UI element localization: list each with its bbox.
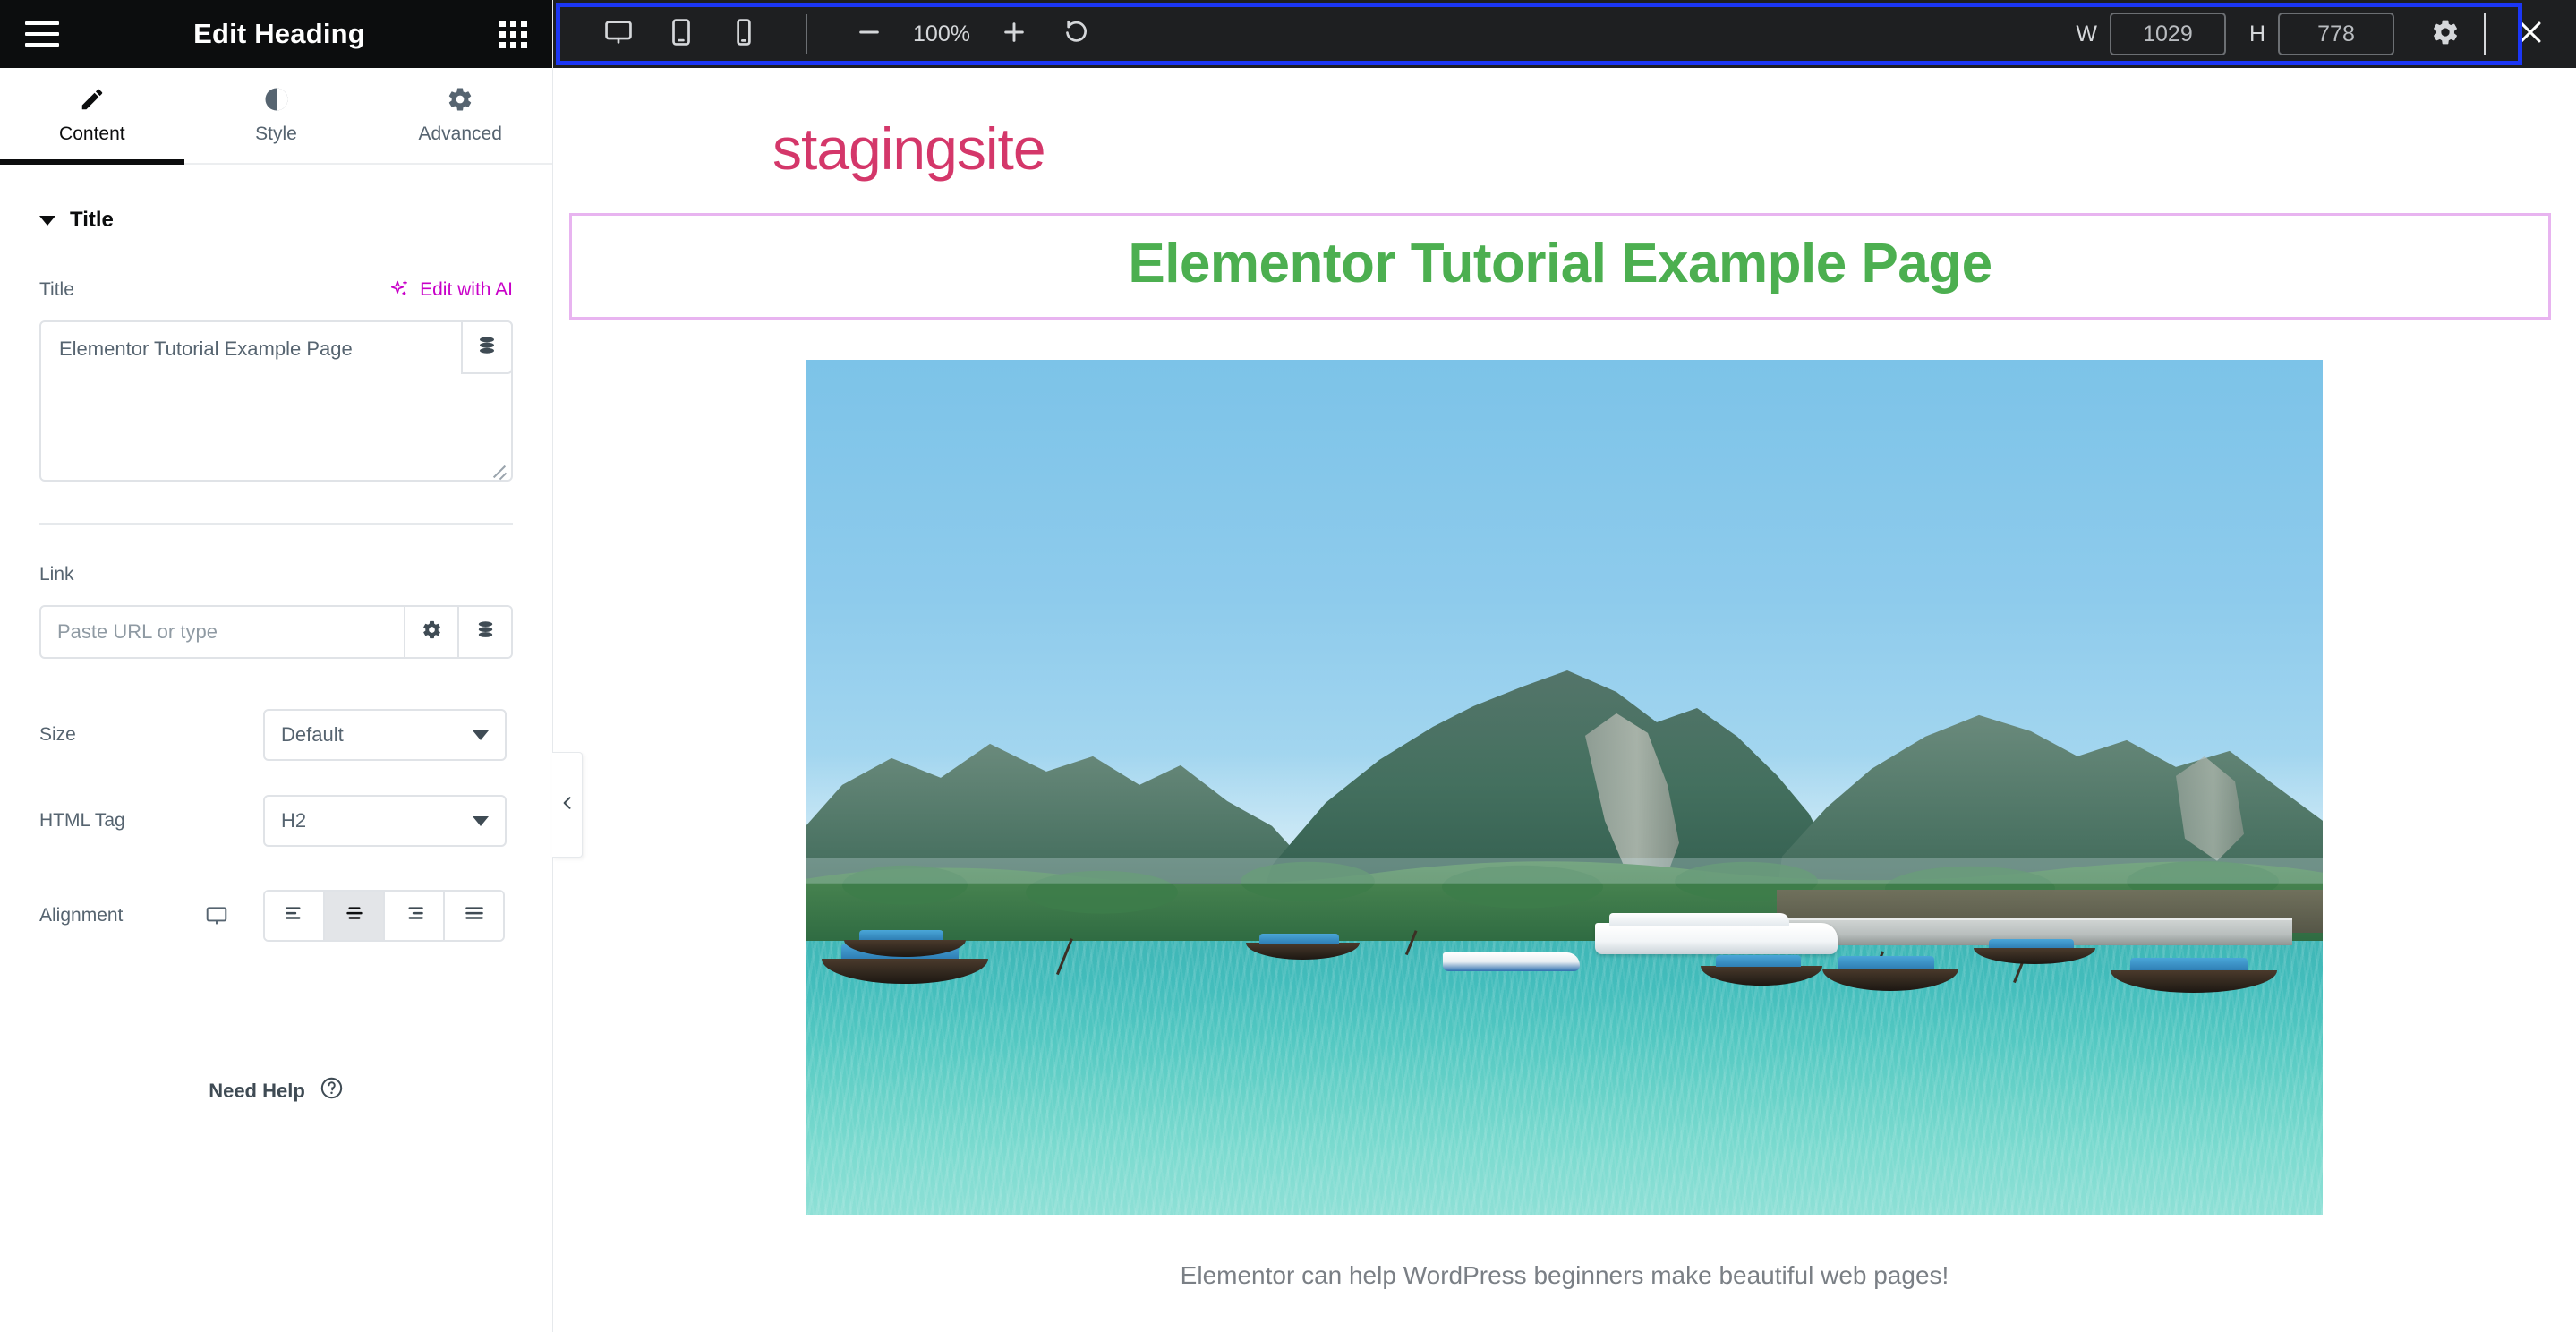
database-stack-icon: [476, 335, 498, 361]
link-field-label: Link: [39, 564, 513, 585]
html-tag-select-value: H2: [281, 809, 306, 832]
need-help-label: Need Help: [209, 1080, 305, 1103]
responsive-toolbar: 100%: [553, 0, 2576, 68]
title-input-value: Elementor Tutorial Example Page: [41, 322, 511, 377]
close-button[interactable]: [2503, 6, 2558, 62]
size-field-label: Size: [39, 724, 263, 746]
tab-content[interactable]: Content: [0, 68, 184, 163]
panel-tabs: Content Style Advanced: [0, 68, 552, 165]
longtail-boat: [1701, 966, 1822, 986]
tab-content-label: Content: [59, 124, 125, 145]
title-field-header: Title Edit with AI: [39, 279, 513, 301]
edit-with-ai-label: Edit with AI: [420, 279, 513, 301]
alignment-field-label: Alignment: [39, 905, 205, 926]
align-left-icon: [283, 902, 306, 930]
image-caption: Elementor can help WordPress beginners m…: [553, 1261, 2576, 1290]
align-center-button[interactable]: [325, 892, 385, 940]
chevron-down-icon: [39, 216, 55, 226]
desktop-icon: [603, 17, 634, 52]
elementor-editor: Edit Heading Content: [0, 0, 2576, 1332]
speed-boat: [1443, 952, 1579, 971]
section-title-header[interactable]: Title: [39, 165, 513, 233]
alignment-field-row: Alignment: [39, 890, 513, 942]
question-circle-icon: [320, 1076, 344, 1106]
responsive-settings-button[interactable]: [2418, 6, 2473, 62]
toolbar-divider-right: [2484, 13, 2486, 55]
chevron-down-icon: [473, 730, 489, 740]
close-x-icon: [2515, 17, 2546, 52]
chevron-left-icon: [559, 791, 576, 819]
heading-widget-selected[interactable]: Elementor Tutorial Example Page: [569, 213, 2551, 320]
device-mobile-button[interactable]: [712, 3, 775, 65]
minus-icon: [855, 18, 883, 51]
tablet-icon: [666, 17, 696, 52]
site-title[interactable]: stagingsite: [553, 115, 2576, 183]
toolbar-divider: [806, 14, 807, 54]
desktop-icon[interactable]: [205, 904, 263, 927]
size-select[interactable]: Default: [263, 709, 507, 761]
align-right-button[interactable]: [385, 892, 445, 940]
pencil-icon: [79, 86, 106, 113]
tab-advanced[interactable]: Advanced: [368, 68, 552, 163]
hamburger-menu-icon[interactable]: [25, 21, 59, 47]
title-input-resize-handle[interactable]: [488, 457, 508, 477]
zoom-control-group: 100%: [838, 3, 1108, 65]
device-desktop-button[interactable]: [587, 3, 650, 65]
longtail-boat: [1246, 943, 1360, 960]
zoom-in-button[interactable]: [983, 3, 1045, 65]
water-layer: [806, 941, 2323, 1215]
database-stack-icon: [475, 619, 496, 645]
title-input[interactable]: Elementor Tutorial Example Page: [39, 320, 513, 482]
gear-icon: [447, 86, 473, 113]
width-input[interactable]: [2110, 13, 2226, 55]
tab-style[interactable]: Style: [184, 68, 369, 163]
contrast-icon: [263, 86, 290, 113]
link-options-button[interactable]: [404, 607, 457, 657]
page-heading-text: Elementor Tutorial Example Page: [572, 232, 2548, 295]
need-help-button[interactable]: Need Help: [39, 1076, 513, 1106]
size-select-value: Default: [281, 723, 344, 747]
size-field-row: Size Default: [39, 709, 513, 761]
link-field-group: [39, 605, 513, 659]
sparkle-icon: [389, 279, 411, 301]
longtail-boat: [1822, 969, 1958, 991]
hero-image[interactable]: [806, 360, 2323, 1215]
tab-advanced-label: Advanced: [418, 124, 501, 145]
longtail-boat: [1974, 948, 2095, 964]
align-right-icon: [403, 902, 426, 930]
preview-canvas: stagingsite Elementor Tutorial Example P…: [553, 68, 2576, 1332]
toolbar-left-group: 100%: [553, 3, 1108, 65]
height-input[interactable]: [2278, 13, 2394, 55]
link-input[interactable]: [41, 607, 404, 657]
editor-right-area: 100%: [553, 0, 2576, 1332]
longtail-boat: [844, 940, 966, 957]
align-center-icon: [343, 902, 366, 930]
title-dynamic-tags-button[interactable]: [461, 320, 513, 374]
align-justify-icon: [463, 902, 486, 930]
height-label: H: [2249, 21, 2265, 47]
alignment-button-group: [263, 890, 505, 942]
chevron-down-icon: [473, 816, 489, 826]
zoom-reset-button[interactable]: [1045, 3, 1108, 65]
gear-icon: [422, 619, 442, 645]
width-label: W: [2076, 21, 2097, 47]
link-dynamic-tags-button[interactable]: [457, 607, 511, 657]
html-tag-select[interactable]: H2: [263, 795, 507, 847]
longtail-boat: [2111, 970, 2277, 993]
ferry-boat: [1595, 923, 1838, 953]
align-left-button[interactable]: [265, 892, 325, 940]
gear-icon: [2431, 18, 2460, 51]
device-tablet-button[interactable]: [650, 3, 712, 65]
editor-panel: Edit Heading Content: [0, 0, 553, 1332]
rotate-ccw-icon: [1062, 18, 1091, 51]
toolbar-right-group: W H: [2076, 6, 2576, 62]
section-title-label: Title: [70, 208, 114, 233]
page-title: Edit Heading: [193, 18, 365, 50]
plus-icon: [1000, 18, 1028, 51]
panel-body: Title Title Edit with AI E: [0, 165, 552, 1332]
edit-with-ai-button[interactable]: Edit with AI: [389, 279, 513, 301]
mobile-icon: [729, 17, 759, 52]
field-divider: [39, 523, 513, 525]
title-field-label: Title: [39, 279, 74, 301]
html-tag-field-row: HTML Tag H2: [39, 795, 513, 847]
panel-header: Edit Heading: [0, 0, 552, 68]
zoom-out-button[interactable]: [838, 3, 900, 65]
zoom-level-value: 100%: [900, 21, 983, 47]
html-tag-field-label: HTML Tag: [39, 810, 263, 832]
tab-style-label: Style: [255, 124, 297, 145]
align-justify-button[interactable]: [445, 892, 503, 940]
widget-grid-icon[interactable]: [499, 21, 527, 48]
longtail-boat: [822, 959, 988, 985]
panel-collapse-handle[interactable]: [552, 752, 583, 858]
